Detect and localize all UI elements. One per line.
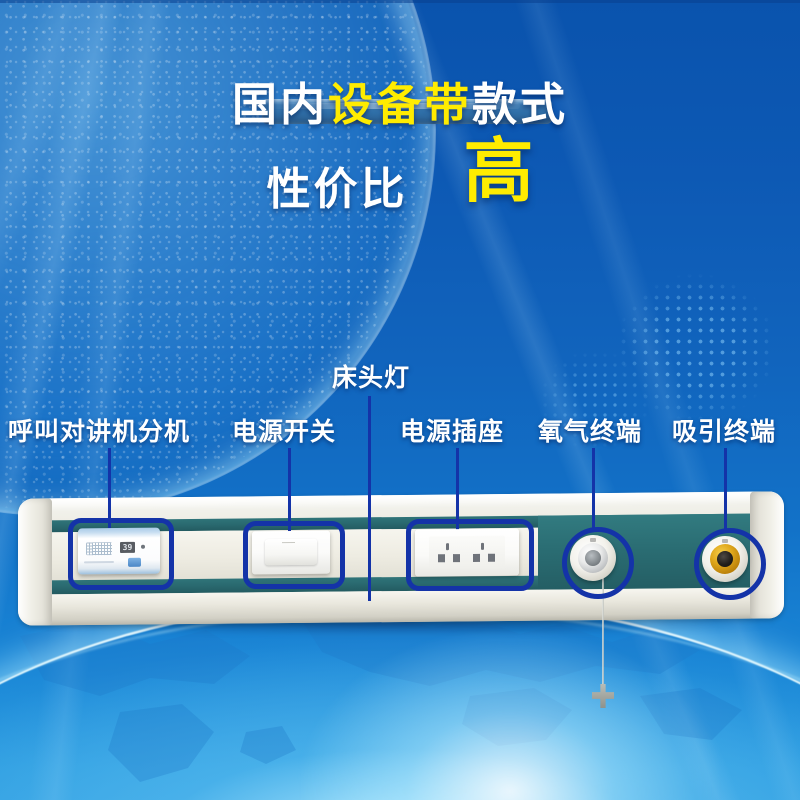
- callout-intercom[interactable]: 呼叫对讲机分机: [8, 412, 190, 448]
- indicator-led-icon: [141, 545, 145, 549]
- callout-label-power-socket: 电源插座: [400, 412, 504, 448]
- callout-suction[interactable]: 吸引终端: [672, 412, 776, 448]
- socket-pin-hole-a3: [453, 554, 460, 562]
- horizon-glow: [300, 630, 720, 800]
- socket-face: [429, 536, 505, 569]
- rocker-switch-mark: [282, 542, 295, 543]
- callout-label-intercom: 呼叫对讲机分机: [8, 412, 190, 448]
- intercom-display-value: 39: [123, 543, 133, 551]
- intercom-slot-line: [84, 561, 114, 563]
- socket-pin-hole-a2: [438, 554, 445, 562]
- pull-cord-cable[interactable]: [602, 574, 604, 696]
- leader-line-suction: [724, 448, 727, 532]
- suction-terminal-marking: [722, 539, 728, 543]
- socket-pin-hole-b3: [488, 554, 495, 562]
- unit-top-highlight: [18, 491, 784, 511]
- headline-line-2: 性价比 高: [0, 153, 800, 217]
- suction-terminal-outlet[interactable]: [702, 536, 748, 582]
- callout-bed-lamp[interactable]: 床头灯: [332, 358, 410, 394]
- headline-part-3: 款式: [472, 78, 568, 131]
- oxygen-terminal-marking: [590, 538, 596, 542]
- nurse-call-intercom-unit[interactable]: 39: [78, 528, 160, 575]
- leader-line-oxygen: [592, 448, 595, 532]
- socket-pin-hole-b2: [473, 554, 480, 562]
- headline-subtitle: 性价比: [267, 153, 408, 217]
- leader-line-power-socket: [456, 448, 459, 530]
- halftone-world-map-dots-secondary: [520, 330, 670, 470]
- callout-label-suction: 吸引终端: [672, 412, 776, 448]
- headline-emphasis: 高: [464, 139, 534, 203]
- headline-part-1: 国内: [232, 78, 328, 131]
- leader-line-intercom: [108, 448, 111, 530]
- oxygen-terminal-outlet[interactable]: [570, 535, 616, 581]
- oxygen-terminal-port-icon: [585, 550, 601, 566]
- headline-line-1: 国内设备带款式: [0, 82, 800, 127]
- suction-terminal-port-icon: [717, 551, 733, 567]
- headline-part-2-highlight: 设备带: [328, 78, 472, 131]
- intercom-call-button[interactable]: [128, 558, 141, 567]
- callout-oxygen[interactable]: 氧气终端: [538, 412, 642, 448]
- unit-end-cap-right: [750, 491, 784, 618]
- speaker-grille-icon: [86, 542, 112, 555]
- headline-block: 国内设备带款式 性价比 高: [0, 82, 800, 217]
- callout-label-bed-lamp: 床头灯: [332, 358, 410, 394]
- leader-line-bed-lamp: [368, 396, 371, 601]
- callout-label-oxygen: 氧气终端: [538, 412, 642, 448]
- power-switch-plate[interactable]: [252, 531, 330, 575]
- socket-pin-hole-a1: [446, 543, 449, 550]
- power-socket-plate[interactable]: [415, 529, 519, 577]
- callout-label-power-switch: 电源开关: [232, 412, 336, 448]
- poster-canvas: 国内设备带款式 性价比 高 呼叫对讲机分机 电源开关 床头灯 电源插座 氧气终端…: [0, 0, 800, 800]
- leader-line-power-switch: [288, 448, 291, 532]
- unit-end-cap-left: [18, 498, 52, 625]
- intercom-display: 39: [120, 542, 135, 553]
- callout-power-switch[interactable]: 电源开关: [232, 412, 336, 448]
- callout-power-socket[interactable]: 电源插座: [400, 412, 504, 448]
- socket-pin-hole-b1: [481, 543, 484, 550]
- top-edge-band: [0, 0, 800, 3]
